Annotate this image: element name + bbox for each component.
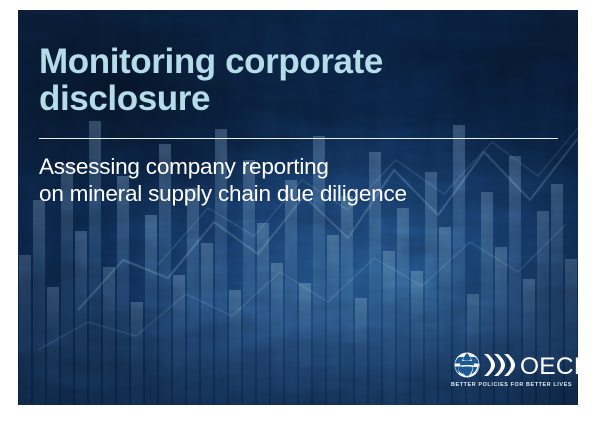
oecd-wordmark: OECD: [520, 353, 578, 380]
cover-subtitle-line-2: on mineral supply chain due diligence: [39, 180, 539, 207]
globe-icon: [455, 353, 480, 378]
cover-title-line-2: disclosure: [39, 80, 539, 117]
report-cover: Monitoring corporate disclosure Assessin…: [18, 10, 578, 405]
cover-content: Monitoring corporate disclosure Assessin…: [18, 10, 578, 405]
chevrons-icon: [484, 354, 515, 376]
oecd-logo: OECD BETTER POLICIES FOR BETTER LIVES: [450, 348, 578, 396]
oecd-logo-mark: OECD: [450, 348, 578, 382]
page-root: Monitoring corporate disclosure Assessin…: [0, 0, 600, 424]
title-divider: [39, 138, 558, 139]
oecd-tagline: BETTER POLICIES FOR BETTER LIVES: [451, 382, 578, 388]
cover-title-line-1: Monitoring corporate: [39, 43, 539, 80]
cover-subtitle: Assessing company reporting on mineral s…: [39, 153, 539, 207]
cover-subtitle-line-1: Assessing company reporting: [39, 153, 539, 180]
cover-title: Monitoring corporate disclosure: [39, 43, 539, 117]
